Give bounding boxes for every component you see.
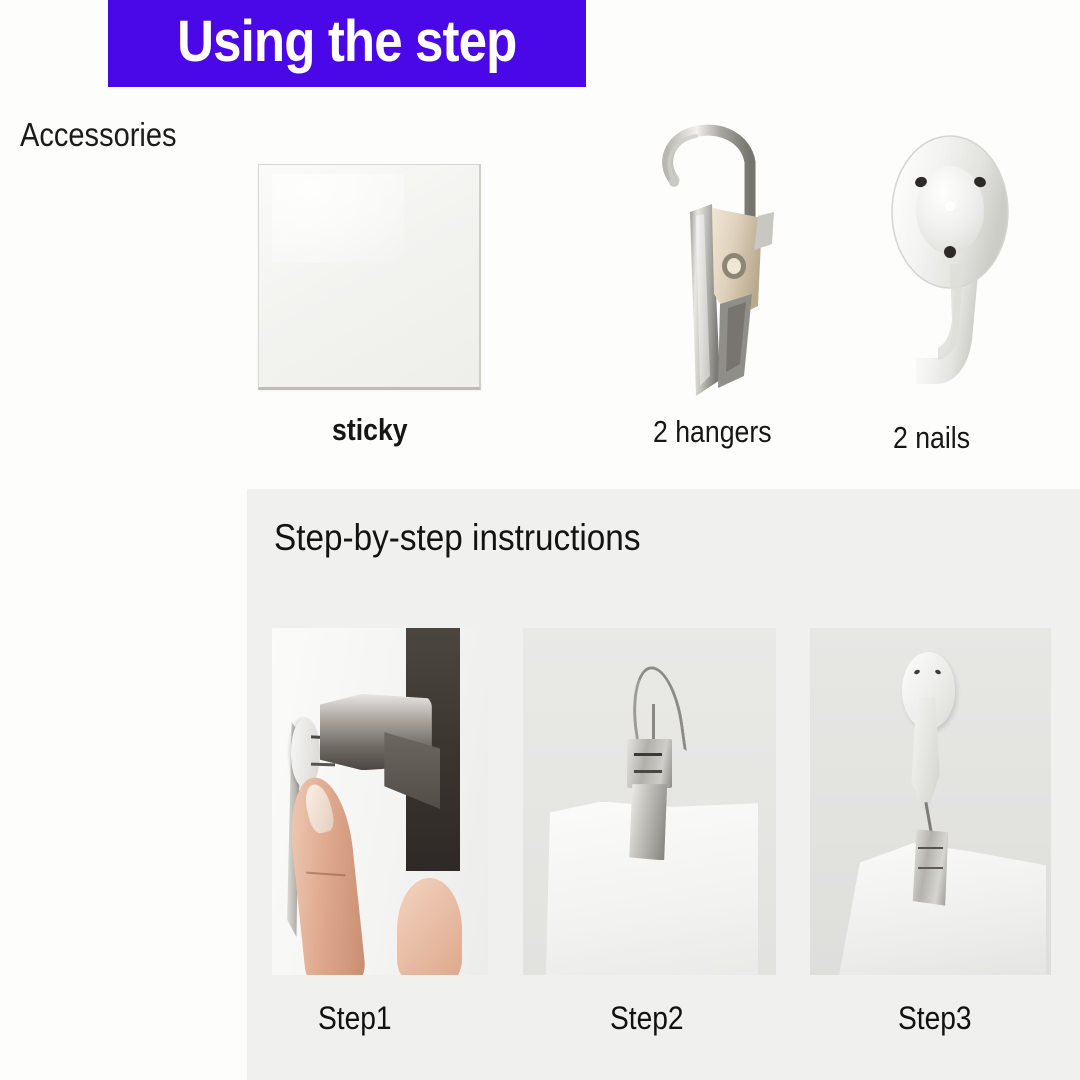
clip-slot-upper bbox=[918, 847, 942, 849]
instruction-poster: Using the step Accessories bbox=[0, 0, 1080, 1080]
accessory-caption-nails: 2 nails bbox=[893, 422, 970, 453]
thumb bbox=[397, 878, 462, 975]
instructions-panel: Step-by-step instructions bbox=[247, 489, 1080, 1080]
step-caption-1: Step1 bbox=[318, 1002, 392, 1034]
step-photo-2 bbox=[523, 628, 776, 975]
page-title: Using the step bbox=[177, 13, 516, 75]
clip-slot-upper bbox=[634, 753, 662, 756]
accessory-caption-sticky: sticky bbox=[332, 414, 408, 445]
step-photo-1 bbox=[272, 628, 488, 975]
step-caption-2: Step2 bbox=[610, 1002, 684, 1034]
hanger-clip-icon bbox=[634, 108, 814, 400]
clip-slot-lower bbox=[918, 867, 942, 869]
pad-highlight bbox=[272, 174, 404, 263]
accessory-caption-hangers: 2 hangers bbox=[653, 416, 772, 447]
clip-body bbox=[629, 784, 667, 860]
clip-top bbox=[627, 739, 673, 788]
title-banner: Using the step bbox=[108, 0, 586, 87]
adhesive-pad-icon bbox=[258, 164, 481, 390]
clip-slot-lower bbox=[634, 770, 662, 773]
instructions-heading: Step-by-step instructions bbox=[274, 519, 640, 556]
accessories-section-label: Accessories bbox=[20, 116, 177, 154]
step-caption-3: Step3 bbox=[898, 1002, 972, 1034]
wall-hook-nail-icon bbox=[876, 134, 1026, 396]
step-photo-3 bbox=[810, 628, 1051, 975]
